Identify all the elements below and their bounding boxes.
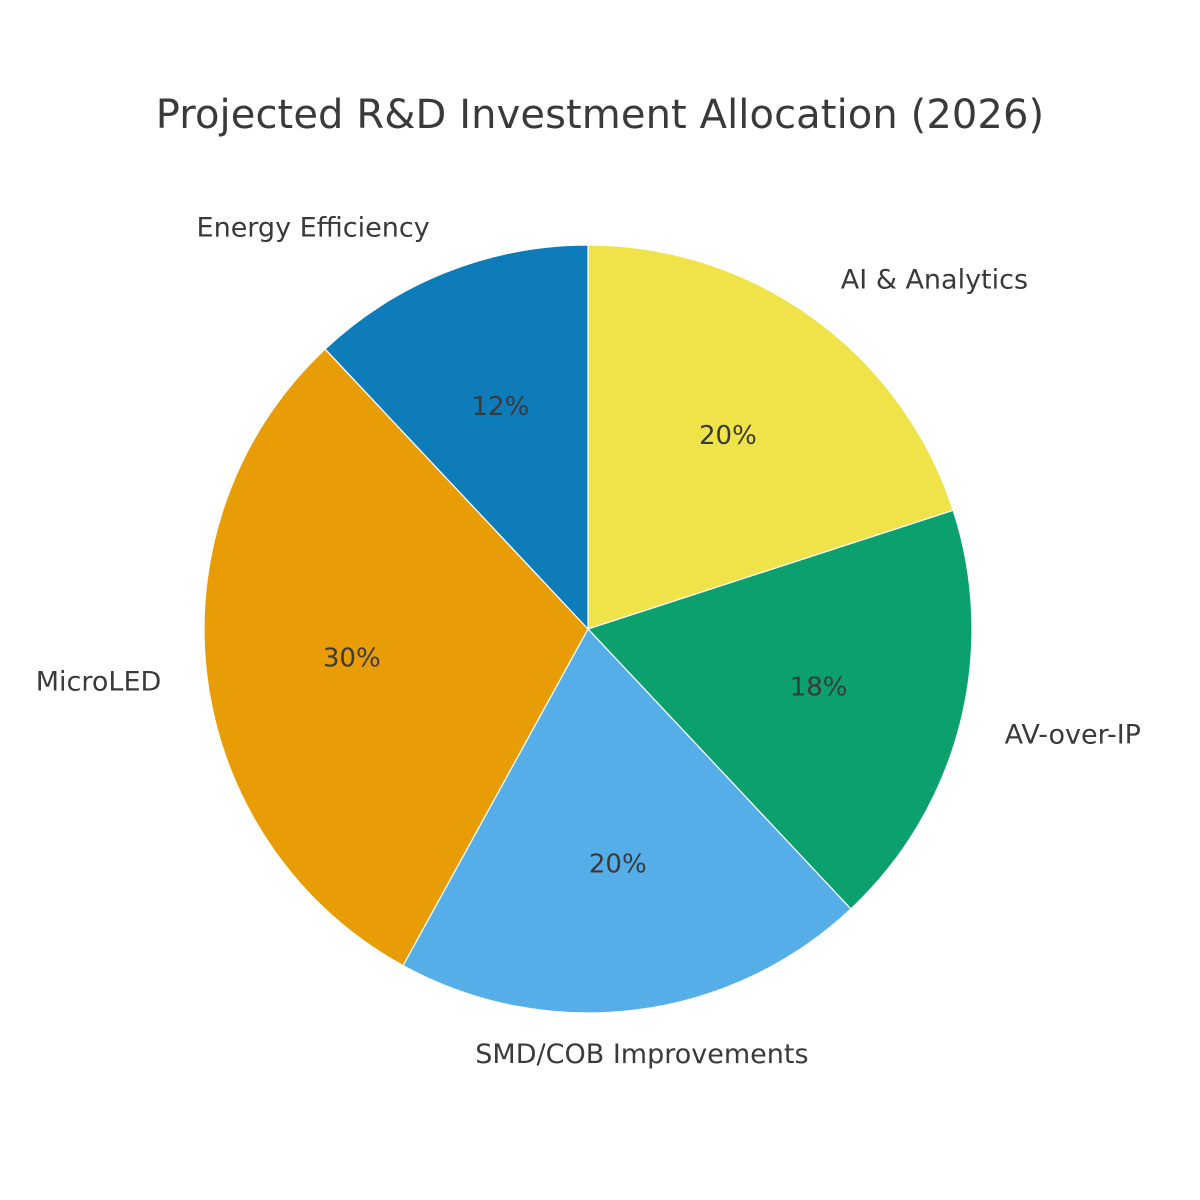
- pie-slice-percent-label: 20%: [589, 850, 647, 880]
- pie-chart: 20%18%20%30%12% AI & AnalyticsAV-over-IP…: [0, 0, 1200, 1200]
- pie-slice-category-label: MicroLED: [36, 666, 162, 697]
- pie-slice-percent-label: 18%: [790, 673, 848, 703]
- pie-slice-category-label: AV-over-IP: [1005, 720, 1141, 751]
- pie-slice-percent-label: 30%: [323, 643, 381, 673]
- pie-slice-category-label: SMD/COB Improvements: [475, 1039, 808, 1070]
- pie-slice-percent-label: 20%: [699, 421, 757, 451]
- pie-slice-category-label: Energy Efficiency: [197, 213, 430, 244]
- pie-slices-group: [204, 245, 972, 1013]
- pie-slice-percent-label: 12%: [472, 392, 530, 422]
- chart-figure: Projected R&D Investment Allocation (202…: [0, 0, 1200, 1200]
- pie-slice-category-label: AI & Analytics: [841, 265, 1028, 296]
